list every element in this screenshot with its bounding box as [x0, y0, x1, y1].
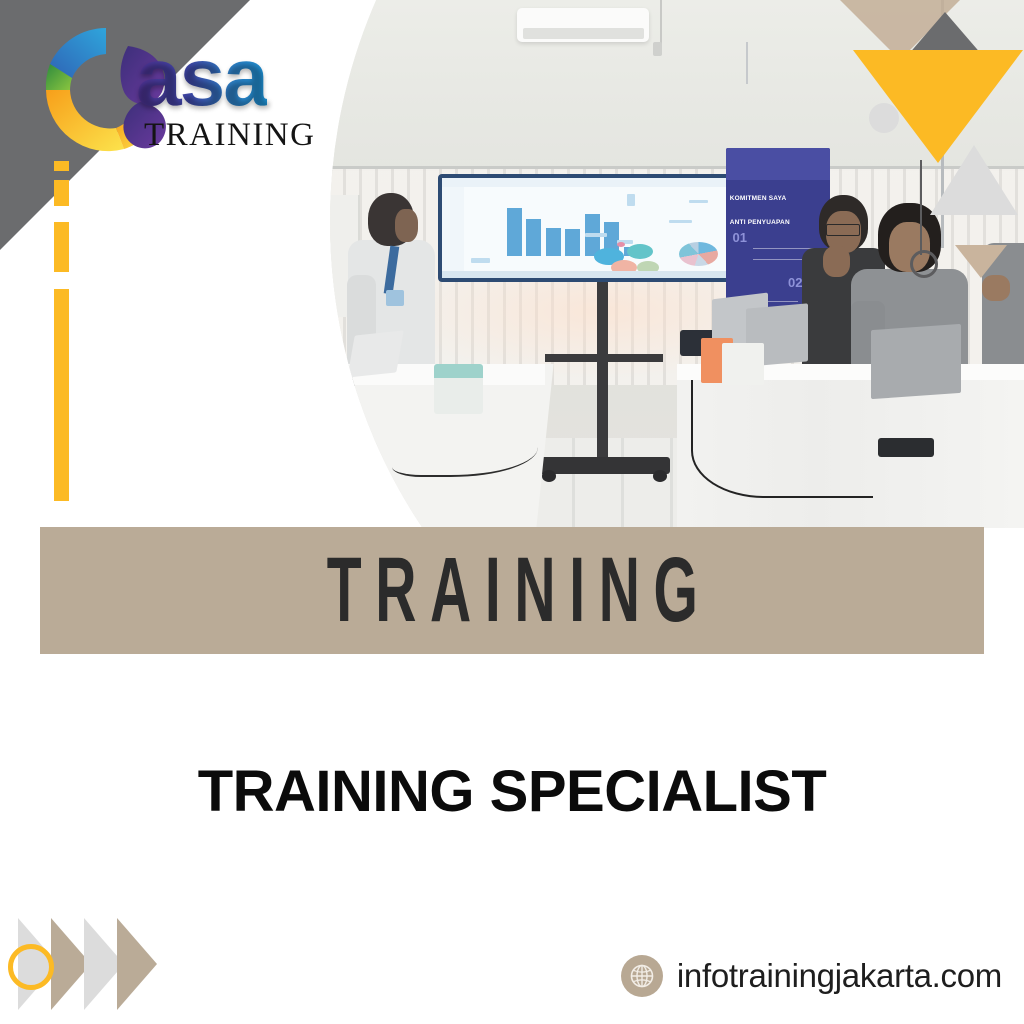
- display-stand-wheel: [542, 470, 556, 482]
- orange-circle-outline-icon: [8, 944, 54, 990]
- laptop: [347, 330, 403, 377]
- display-stand-pole: [597, 282, 607, 462]
- tissue-box-top: [434, 364, 483, 377]
- wall-pole-small: [746, 42, 748, 84]
- website-footer[interactable]: infotrainingjakarta.com: [621, 955, 1002, 997]
- presentation-display: [438, 174, 771, 282]
- ac-cable: [660, 0, 662, 48]
- air-conditioner-icon: [517, 8, 649, 42]
- screen-chip: [585, 233, 608, 237]
- tissue-box: [434, 372, 483, 414]
- website-url[interactable]: infotrainingjakarta.com: [677, 957, 1002, 995]
- hanging-ring-icon: [910, 250, 938, 278]
- hanging-line: [920, 160, 922, 255]
- orange-dash: [54, 289, 69, 501]
- page-title: TRAINING SPECIALIST: [0, 758, 1024, 825]
- screen-bubble: [627, 244, 653, 259]
- presenter-badge: [386, 290, 404, 306]
- screen-taskbar: [442, 271, 767, 278]
- poster-canvas: KOMITMEN SAYA ANTI PENYUAPAN 01 02: [0, 0, 1024, 1024]
- brand-wordmark: asa: [136, 40, 267, 115]
- presenter-face: [395, 209, 419, 243]
- screen-toolbar: [442, 178, 767, 187]
- brand-tagline: TRAINING: [144, 117, 315, 154]
- screen-sidebar: [442, 187, 465, 278]
- screen-chip: [689, 200, 709, 203]
- rollup-banner-number-02: 02: [788, 275, 802, 290]
- rollup-banner-header: [726, 148, 830, 180]
- display-stand-base: [538, 457, 670, 474]
- orange-dash: [54, 180, 69, 206]
- participant-4-hand: [982, 275, 1010, 301]
- rollup-banner-line1: KOMITMEN SAYA: [730, 195, 827, 202]
- banner-title: TRAINING: [313, 538, 711, 643]
- screen-chip: [627, 194, 635, 206]
- screen-pie-chart: [679, 242, 718, 266]
- chevron-icon: [117, 918, 157, 1010]
- screen-bar: [565, 229, 580, 256]
- display-stand-wheel: [653, 470, 667, 482]
- grey-circle-icon: [869, 103, 899, 133]
- participant-2-hand: [823, 246, 851, 278]
- orange-dash: [54, 222, 69, 272]
- screen-bar: [526, 219, 541, 256]
- rollup-banner-rule: [753, 259, 802, 260]
- display-stand-shelf: [545, 354, 663, 362]
- ac-vent: [523, 28, 644, 39]
- ac-plug: [653, 42, 662, 56]
- screen-bar: [507, 208, 522, 256]
- brand-logo: asa TRAINING: [32, 14, 332, 154]
- rollup-banner-number-01: 01: [733, 230, 747, 245]
- training-banner: TRAINING: [40, 527, 984, 654]
- laptop: [871, 324, 961, 399]
- screen-bar: [546, 228, 561, 256]
- tissue-box: [722, 343, 764, 385]
- rollup-banner-line2: ANTI PENYUAPAN: [730, 219, 827, 226]
- screen-chip: [669, 220, 692, 223]
- cable: [691, 380, 873, 498]
- participant-2-glasses-icon: [826, 224, 860, 236]
- tan-triangle-down-small-icon: [955, 245, 1007, 278]
- white-triangle-up-icon: [930, 145, 1018, 215]
- screen-chip: [471, 258, 491, 263]
- globe-icon: [621, 955, 663, 997]
- smartphone: [878, 438, 934, 456]
